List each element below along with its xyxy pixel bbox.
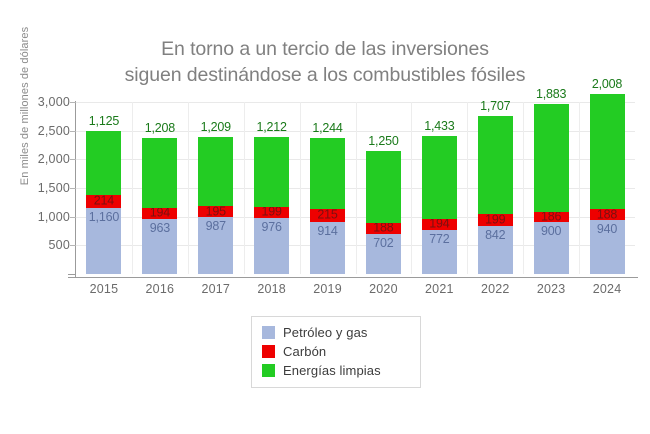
bar-value-label-oil-gas: 842 (485, 228, 505, 242)
bar-value-label-oil-gas: 1,160 (89, 210, 119, 224)
bar-segment-oil-gas[interactable]: 914 (310, 222, 345, 274)
x-axis-tick-label-2022: 2022 (465, 282, 525, 296)
bar-segment-coal[interactable]: 188 (590, 209, 625, 220)
y-axis-tick-mark (70, 102, 76, 103)
bar-group[interactable]: 9401882,008 (590, 102, 625, 274)
bar-segment-oil-gas[interactable]: 987 (198, 217, 233, 274)
bar-segment-clean-energy[interactable]: 2,008 (590, 94, 625, 209)
bar-segment-oil-gas[interactable]: 900 (534, 222, 569, 274)
bar-value-label-oil-gas: 987 (206, 219, 226, 233)
y-axis-tick-mark (70, 217, 76, 218)
bar-group[interactable]: 9631941,208 (142, 102, 177, 274)
y-axis-tick-mark (70, 245, 76, 246)
bar-segment-coal[interactable]: 199 (254, 207, 289, 218)
bar-group[interactable]: 1,1602141,125 (86, 102, 121, 274)
bar-value-label-coal: 194 (429, 217, 449, 231)
bar-segment-clean-energy[interactable]: 1,244 (310, 138, 345, 209)
y-axis-tick-mark (70, 188, 76, 189)
bar-value-label-coal: 186 (541, 210, 561, 224)
bar-group[interactable]: 9001861,883 (534, 102, 569, 274)
bar-segment-coal[interactable]: 195 (198, 206, 233, 217)
bar-value-label-oil-gas: 940 (597, 222, 617, 236)
x-axis-tick-label-2021: 2021 (409, 282, 469, 296)
bar-segment-oil-gas[interactable]: 963 (142, 219, 177, 274)
gridline-vertical (467, 102, 468, 274)
bar-value-label-clean-energy: 1,212 (257, 120, 287, 134)
x-axis-tick-label-2017: 2017 (186, 282, 246, 296)
bar-value-label-oil-gas: 900 (541, 224, 561, 238)
bar-segment-oil-gas[interactable]: 976 (254, 218, 289, 274)
legend-swatch-icon (262, 364, 275, 377)
y-axis-tick-mark (70, 131, 76, 132)
bar-value-label-clean-energy: 1,883 (536, 87, 566, 101)
x-axis-tick-label-2015: 2015 (74, 282, 134, 296)
bar-value-label-oil-gas: 914 (317, 224, 337, 238)
x-axis-tick-label-2018: 2018 (242, 282, 302, 296)
legend-swatch-icon (262, 326, 275, 339)
bar-segment-coal[interactable]: 194 (422, 219, 457, 230)
bar-segment-coal[interactable]: 188 (366, 223, 401, 234)
x-axis-tick-label-2023: 2023 (521, 282, 581, 296)
y-axis-tick-label: 2,500 (24, 124, 70, 138)
bar-segment-coal[interactable]: 194 (142, 208, 177, 219)
bar-segment-clean-energy[interactable]: 1,208 (142, 138, 177, 207)
bar-group[interactable]: 7721941,433 (422, 102, 457, 274)
x-axis-tick-label-2020: 2020 (353, 282, 413, 296)
gridline-vertical (579, 102, 580, 274)
gridline-vertical (411, 102, 412, 274)
bar-value-label-clean-energy: 2,008 (592, 77, 622, 91)
bar-value-label-oil-gas: 702 (373, 236, 393, 250)
bar-segment-clean-energy[interactable]: 1,125 (86, 131, 121, 196)
bar-segment-coal[interactable]: 214 (86, 195, 121, 207)
y-axis-tick-label: 1,000 (24, 210, 70, 224)
x-axis-tick-label-2016: 2016 (130, 282, 190, 296)
bar-value-label-clean-energy: 1,244 (312, 121, 342, 135)
y-axis-tick-label: 1,500 (24, 181, 70, 195)
bar-segment-clean-energy[interactable]: 1,212 (254, 137, 289, 206)
bar-segment-oil-gas[interactable]: 1,160 (86, 208, 121, 275)
legend-item[interactable]: Carbón (262, 342, 410, 361)
gridline-vertical (188, 102, 189, 274)
bar-segment-clean-energy[interactable]: 1,707 (478, 116, 513, 214)
legend-item[interactable]: Energías limpias (262, 361, 410, 380)
chart-legend: Petróleo y gasCarbónEnergías limpias (251, 316, 421, 388)
bar-value-label-clean-energy: 1,707 (480, 99, 510, 113)
bar-segment-oil-gas[interactable]: 940 (590, 220, 625, 274)
legend-label: Energías limpias (283, 363, 381, 378)
bar-group[interactable]: 9871951,209 (198, 102, 233, 274)
x-axis-line (68, 277, 638, 278)
legend-label: Carbón (283, 344, 326, 359)
bar-group[interactable]: 7021881,250 (366, 102, 401, 274)
bar-value-label-clean-energy: 1,250 (368, 134, 398, 148)
x-axis-origin-tick (68, 274, 76, 275)
gridline-vertical (300, 102, 301, 274)
gridline-vertical (132, 102, 133, 274)
bar-segment-oil-gas[interactable]: 772 (422, 230, 457, 274)
bar-value-label-coal: 194 (150, 206, 170, 220)
bar-segment-coal[interactable]: 186 (534, 212, 569, 223)
bar-value-label-clean-energy: 1,209 (201, 120, 231, 134)
y-axis-tick-label: 2,000 (24, 152, 70, 166)
gridline-vertical (523, 102, 524, 274)
chart-title: En torno a un tercio de las inversiones … (0, 36, 650, 88)
bar-value-label-oil-gas: 963 (150, 221, 170, 235)
bar-segment-oil-gas[interactable]: 702 (366, 234, 401, 274)
plot-area: 1,1602141,1259631941,2089871951,20997619… (76, 102, 635, 274)
bar-segment-oil-gas[interactable]: 842 (478, 226, 513, 274)
gridline-vertical (356, 102, 357, 274)
bar-value-label-coal: 199 (262, 205, 282, 219)
bar-segment-clean-energy[interactable]: 1,883 (534, 104, 569, 212)
y-axis-tick-mark (70, 159, 76, 160)
bar-value-label-coal: 214 (94, 194, 114, 208)
bar-value-label-clean-energy: 1,125 (89, 114, 119, 128)
legend-item[interactable]: Petróleo y gas (262, 323, 410, 342)
bar-segment-clean-energy[interactable]: 1,433 (422, 136, 457, 218)
bar-group[interactable]: 8421991,707 (478, 102, 513, 274)
bar-segment-coal[interactable]: 199 (478, 214, 513, 225)
bar-group[interactable]: 9142151,244 (310, 102, 345, 274)
y-axis-tick-label: 3,000 (24, 95, 70, 109)
bar-value-label-oil-gas: 772 (429, 232, 449, 246)
bar-value-label-coal: 188 (373, 221, 393, 235)
bar-value-label-coal: 188 (597, 207, 617, 221)
bar-value-label-clean-energy: 1,433 (424, 119, 454, 133)
legend-label: Petróleo y gas (283, 325, 368, 340)
legend-swatch-icon (262, 345, 275, 358)
bar-segment-clean-energy[interactable]: 1,250 (366, 151, 401, 223)
y-axis-tick-label: 500 (24, 238, 70, 252)
gridline-vertical (244, 102, 245, 274)
bar-value-label-coal: 195 (206, 205, 226, 219)
bar-value-label-clean-energy: 1,208 (145, 121, 175, 135)
bar-value-label-coal: 199 (485, 213, 505, 227)
y-axis-tick-labels: 5001,0001,5002,0002,5003,000 (16, 0, 70, 434)
bar-group[interactable]: 9761991,212 (254, 102, 289, 274)
bar-segment-clean-energy[interactable]: 1,209 (198, 137, 233, 206)
bar-value-label-oil-gas: 976 (262, 220, 282, 234)
bar-value-label-coal: 215 (317, 208, 337, 222)
x-axis-tick-label-2019: 2019 (298, 282, 358, 296)
bar-segment-coal[interactable]: 215 (310, 209, 345, 221)
x-axis-tick-label-2024: 2024 (577, 282, 637, 296)
